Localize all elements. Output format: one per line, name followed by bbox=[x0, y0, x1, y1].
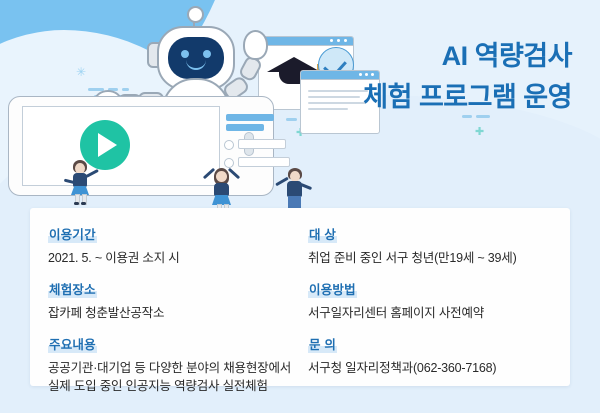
person-cheering bbox=[200, 166, 244, 212]
info-column-right: 대 상 취업 준비 중인 서구 청년(만19세 ~ 39세) 이용방법 서구일자… bbox=[308, 226, 556, 377]
info-label: 이용기간 bbox=[48, 229, 97, 243]
title-line-1: AI 역량검사 bbox=[363, 36, 572, 77]
info-value: 2021. 5. ~ 이용권 소지 시 bbox=[48, 249, 298, 267]
info-card: 이용기간 2021. 5. ~ 이용권 소지 시 체험장소 잡카페 청춘발산공작… bbox=[30, 208, 570, 386]
info-label: 체험장소 bbox=[48, 284, 97, 298]
robot-eye bbox=[203, 50, 211, 58]
form-field-line bbox=[238, 157, 290, 167]
info-value: 취업 준비 중인 서구 청년(만19세 ~ 39세) bbox=[308, 249, 556, 267]
info-value-line1: 공공기관·대기업 등 다양한 분야의 채용현장에서 bbox=[48, 359, 298, 377]
promo-banner: ✳ ✳ ✚ ✚ ✚ ✚ bbox=[0, 0, 600, 413]
form-field-bar bbox=[226, 124, 264, 131]
form-field-line bbox=[238, 139, 286, 149]
text-line bbox=[308, 90, 368, 92]
info-value: 잡카페 청춘발산공작소 bbox=[48, 304, 298, 322]
plus-sparkle-icon: ✚ bbox=[475, 127, 484, 138]
dash-decor bbox=[286, 118, 297, 121]
text-line bbox=[308, 96, 360, 98]
text-line bbox=[308, 108, 348, 110]
info-block-contact: 문 의 서구청 일자리정책과(062-360-7168) bbox=[308, 336, 556, 377]
info-value-line2: 실제 도입 중인 인공지능 역량검사 실전체험 bbox=[48, 377, 298, 395]
title-line-2: 체험 프로그램 운영 bbox=[363, 77, 572, 118]
info-value: 공공기관·대기업 등 다양한 분야의 채용현장에서 실제 도입 중인 인공지능 … bbox=[48, 359, 298, 395]
robot-eye bbox=[181, 50, 189, 58]
robot-smile bbox=[186, 58, 206, 70]
info-label: 대 상 bbox=[308, 229, 337, 243]
info-value: 서구일자리센터 홈페이지 사전예약 bbox=[308, 304, 556, 322]
dash-decor bbox=[122, 88, 129, 91]
info-column-left: 이용기간 2021. 5. ~ 이용권 소지 시 체험장소 잡카페 청춘발산공작… bbox=[48, 226, 298, 396]
info-block-target: 대 상 취업 준비 중인 서구 청년(만19세 ~ 39세) bbox=[308, 226, 556, 267]
info-value: 서구청 일자리정책과(062-360-7168) bbox=[308, 359, 556, 377]
info-block-venue: 체험장소 잡카페 청춘발산공작소 bbox=[48, 281, 298, 322]
robot-hand bbox=[243, 30, 268, 60]
info-label: 주요내용 bbox=[48, 339, 97, 353]
info-block-period: 이용기간 2021. 5. ~ 이용권 소지 시 bbox=[48, 226, 298, 267]
banner-title: AI 역량검사 체험 프로그램 운영 bbox=[363, 36, 572, 117]
snowflake-icon: ✳ bbox=[76, 66, 86, 78]
info-block-content: 주요내용 공공기관·대기업 등 다양한 분야의 채용현장에서 실제 도입 중인 … bbox=[48, 336, 298, 395]
info-block-method: 이용방법 서구일자리센터 홈페이지 사전예약 bbox=[308, 281, 556, 322]
robot-antenna-ball bbox=[187, 6, 204, 23]
info-label: 문 의 bbox=[308, 339, 337, 353]
form-field-bar bbox=[226, 114, 274, 121]
radio-option bbox=[224, 140, 234, 150]
person-pointing bbox=[62, 160, 104, 202]
robot-face bbox=[168, 37, 224, 79]
person-waving bbox=[276, 168, 318, 212]
text-line bbox=[308, 102, 366, 104]
info-label: 이용방법 bbox=[308, 284, 357, 298]
